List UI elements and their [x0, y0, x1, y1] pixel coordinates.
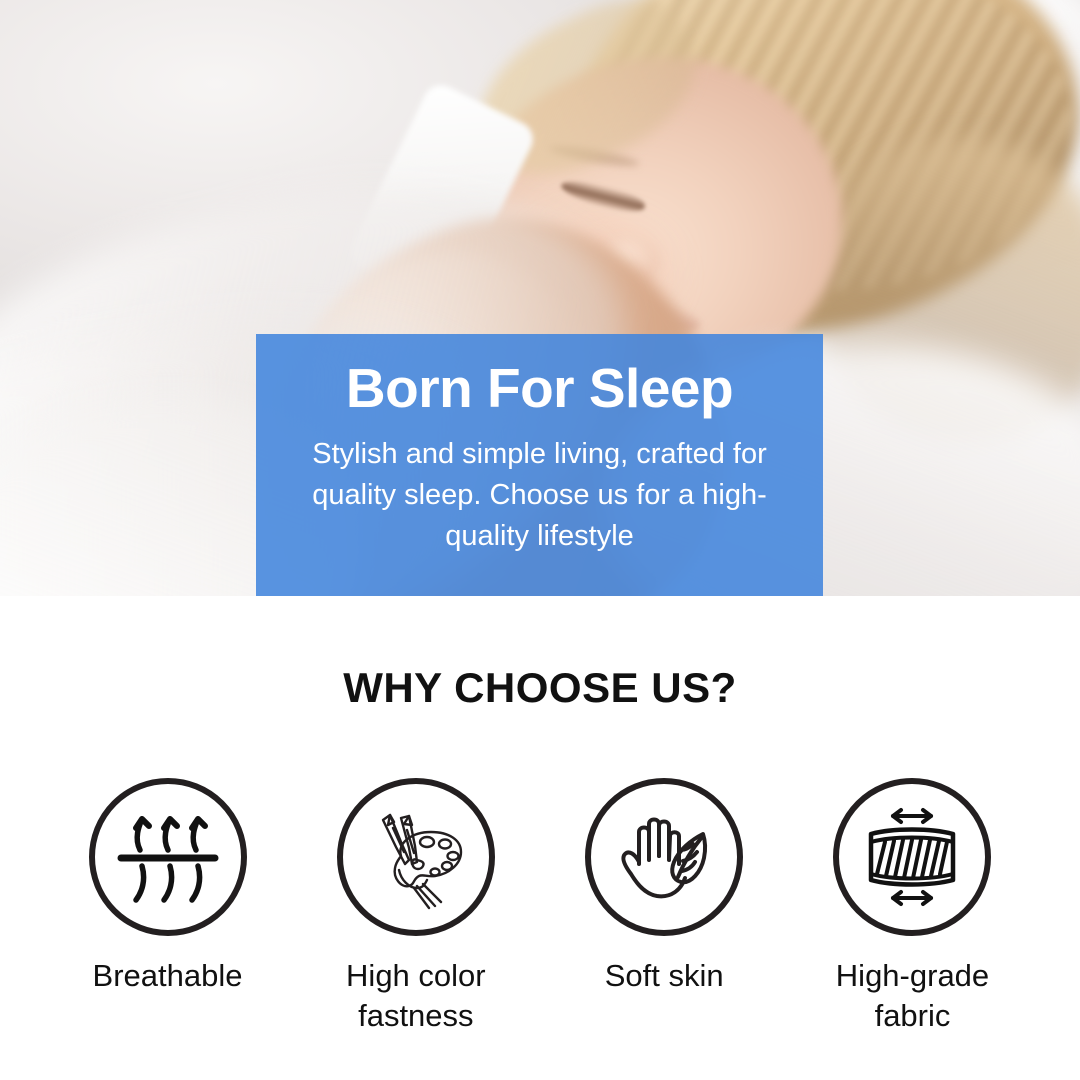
hand-feather-icon: [585, 778, 743, 936]
feature-item-high-grade-fabric: High-grade fabric: [790, 778, 1035, 1035]
feature-label: High-grade fabric: [836, 956, 989, 1035]
feature-list: Breathable: [0, 778, 1080, 1035]
feature-label: Breathable: [93, 956, 243, 996]
hero-subtitle: Stylish and simple living, crafted for q…: [285, 434, 795, 558]
feature-item-high-color-fastness: High color fastness: [293, 778, 538, 1035]
stretch-fabric-arrows-icon: [833, 778, 991, 936]
feature-item-breathable: Breathable: [45, 778, 290, 1035]
hero-banner: Born For Sleep Stylish and simple living…: [256, 334, 823, 596]
airflow-breathable-icon: [89, 778, 247, 936]
product-feature-page: Born For Sleep Stylish and simple living…: [0, 0, 1080, 1080]
feature-item-soft-skin: Soft skin: [542, 778, 787, 1035]
feature-label: High color fastness: [346, 956, 486, 1035]
section-heading-why-choose-us: WHY CHOOSE US?: [0, 664, 1080, 712]
paint-palette-brushes-icon: [337, 778, 495, 936]
hero-title: Born For Sleep: [346, 360, 733, 418]
feature-label: Soft skin: [605, 956, 724, 996]
hero-photo: Born For Sleep Stylish and simple living…: [0, 0, 1080, 596]
